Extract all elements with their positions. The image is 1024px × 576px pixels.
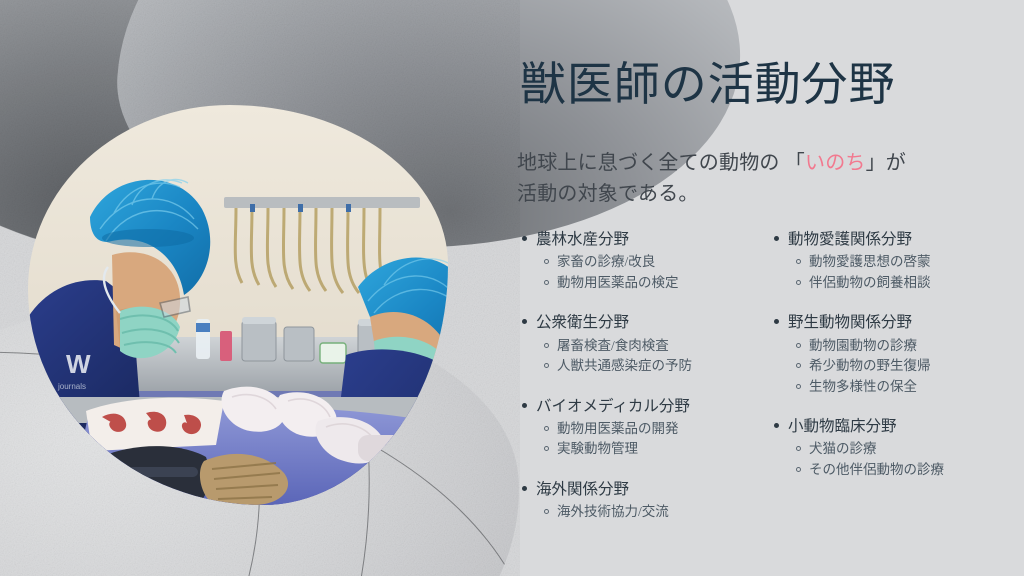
field-subitem: 海外技術協力/交流 (544, 502, 768, 523)
bullet-disc-icon (522, 486, 527, 491)
bullet-circle-icon (544, 363, 549, 368)
field-heading: 農林水産分野 (522, 228, 768, 251)
field-heading-label: 農林水産分野 (536, 228, 629, 251)
field-subitem-label: 人獣共通感染症の予防 (557, 356, 692, 377)
field-group: 野生動物関係分野動物園動物の診療希少動物の野生復帰生物多様性の保全 (774, 311, 1020, 397)
field-column-left: 農林水産分野家畜の診療/改良動物用医薬品の検定公衆衛生分野屠畜検査/食肉検査人獣… (522, 228, 768, 541)
bullet-circle-icon (544, 426, 549, 431)
svg-text:W: W (66, 349, 91, 379)
bullet-disc-icon (774, 236, 779, 241)
field-subitem: 伴侶動物の飼養相談 (796, 273, 1020, 294)
subtitle-text-before: 地球上に息づく全ての動物の 「 (517, 152, 805, 174)
field-subitem-label: 犬猫の診療 (809, 439, 877, 460)
field-group: 海外関係分野海外技術協力/交流 (522, 478, 768, 523)
bullet-circle-icon (544, 280, 549, 285)
bullet-circle-icon (544, 343, 549, 348)
field-heading-label: 公衆衛生分野 (536, 311, 629, 334)
field-subitem-label: 海外技術協力/交流 (557, 502, 669, 523)
field-group: 農林水産分野家畜の診療/改良動物用医薬品の検定 (522, 228, 768, 293)
bullet-circle-icon (796, 259, 801, 264)
field-group: 小動物臨床分野犬猫の診療その他伴侶動物の診療 (774, 415, 1020, 480)
field-heading: 公衆衛生分野 (522, 311, 768, 334)
bullet-circle-icon (796, 446, 801, 451)
bullet-circle-icon (796, 467, 801, 472)
subtitle-text-after: 」が (866, 152, 906, 174)
field-subitem: 人獣共通感染症の予防 (544, 356, 768, 377)
field-subitem: 屠畜検査/食肉検査 (544, 336, 768, 357)
field-subitem: 動物用医薬品の開発 (544, 419, 768, 440)
field-subitem: 実験動物管理 (544, 439, 768, 460)
field-subitem: 犬猫の診療 (796, 439, 1020, 460)
bullet-circle-icon (796, 363, 801, 368)
field-subitem-label: 動物用医薬品の開発 (557, 419, 679, 440)
field-subitem: 生物多様性の保全 (796, 377, 1020, 398)
field-column-right: 動物愛護関係分野動物愛護思想の啓蒙伴侶動物の飼養相談野生動物関係分野動物園動物の… (774, 228, 1020, 541)
bullet-disc-icon (522, 319, 527, 324)
svg-text:journals: journals (57, 382, 86, 391)
presentation-slide: W journals (0, 0, 1024, 576)
field-heading: バイオメディカル分野 (522, 395, 768, 418)
field-subitem-label: 動物愛護思想の啓蒙 (809, 252, 931, 273)
field-subitem-label: 希少動物の野生復帰 (809, 356, 931, 377)
field-subitem: 動物用医薬品の検定 (544, 273, 768, 294)
field-subitem: 動物園動物の診療 (796, 336, 1020, 357)
field-subitem-label: 生物多様性の保全 (809, 377, 917, 398)
field-group: 公衆衛生分野屠畜検査/食肉検査人獣共通感染症の予防 (522, 311, 768, 376)
slide-title: 獣医師の活動分野 (520, 60, 990, 110)
field-heading: 動物愛護関係分野 (774, 228, 1020, 251)
field-subitem-label: 屠畜検査/食肉検査 (557, 336, 669, 357)
bullet-disc-icon (774, 319, 779, 324)
bullet-disc-icon (774, 423, 779, 428)
field-heading-label: 野生動物関係分野 (788, 311, 912, 334)
field-subitem-label: 動物園動物の診療 (809, 336, 917, 357)
field-subitem: 希少動物の野生復帰 (796, 356, 1020, 377)
slide-subtitle: 地球上に息づく全ての動物の 「いのち」が 活動の対象である。 (517, 148, 977, 210)
field-heading-label: バイオメディカル分野 (536, 395, 690, 418)
field-heading: 海外関係分野 (522, 478, 768, 501)
field-heading-label: 動物愛護関係分野 (788, 228, 912, 251)
field-columns: 農林水産分野家畜の診療/改良動物用医薬品の検定公衆衛生分野屠畜検査/食肉検査人獣… (522, 228, 1022, 541)
field-group: バイオメディカル分野動物用医薬品の開発実験動物管理 (522, 395, 768, 460)
veterinary-staff-photo: W journals (28, 105, 448, 505)
bullet-circle-icon (796, 280, 801, 285)
bullet-circle-icon (796, 384, 801, 389)
field-subitem: 動物愛護思想の啓蒙 (796, 252, 1020, 273)
bullet-circle-icon (544, 509, 549, 514)
field-heading: 野生動物関係分野 (774, 311, 1020, 334)
field-subitem-label: 伴侶動物の飼養相談 (809, 273, 931, 294)
field-heading-label: 小動物臨床分野 (788, 415, 897, 438)
subtitle-accent-inochi: いのち (805, 152, 866, 174)
subtitle-line-2: 活動の対象である。 (517, 183, 699, 205)
bullet-circle-icon (796, 343, 801, 348)
field-heading: 小動物臨床分野 (774, 415, 1020, 438)
field-group: 動物愛護関係分野動物愛護思想の啓蒙伴侶動物の飼養相談 (774, 228, 1020, 293)
bullet-circle-icon (544, 259, 549, 264)
slide-content: 獣医師の活動分野 地球上に息づく全ての動物の 「いのち」が 活動の対象である。 … (512, 0, 1024, 576)
field-subitem-label: 家畜の診療/改良 (557, 252, 655, 273)
bullet-disc-icon (522, 236, 527, 241)
field-heading-label: 海外関係分野 (536, 478, 629, 501)
field-subitem-label: 実験動物管理 (557, 439, 638, 460)
field-subitem: その他伴侶動物の診療 (796, 460, 1020, 481)
field-subitem-label: 動物用医薬品の検定 (557, 273, 679, 294)
bullet-circle-icon (544, 446, 549, 451)
bullet-disc-icon (522, 403, 527, 408)
field-subitem: 家畜の診療/改良 (544, 252, 768, 273)
field-subitem-label: その他伴侶動物の診療 (809, 460, 944, 481)
